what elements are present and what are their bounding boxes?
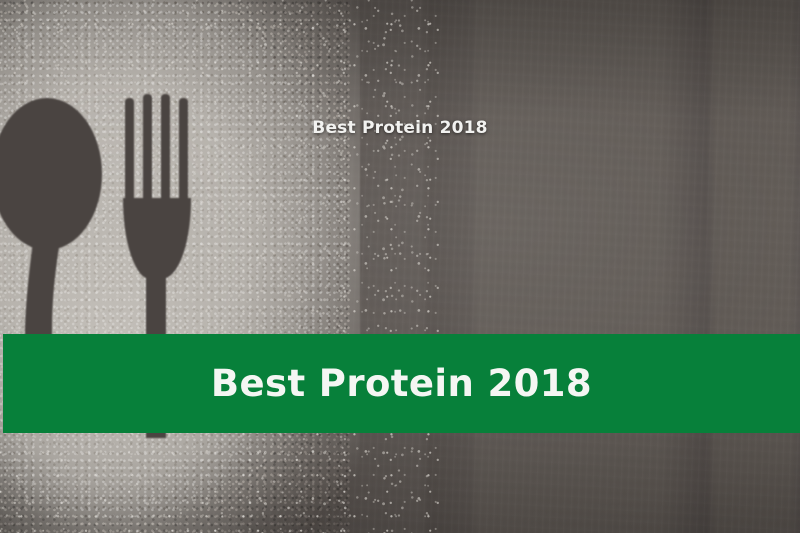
title-banner: Best Protein 2018 (3, 334, 800, 433)
page-root: Best Protein 2018 Best Protein 2018 (0, 0, 800, 533)
page-title: Best Protein 2018 (211, 365, 592, 402)
background-photo (0, 0, 800, 533)
overlay-caption: Best Protein 2018 (0, 118, 800, 138)
